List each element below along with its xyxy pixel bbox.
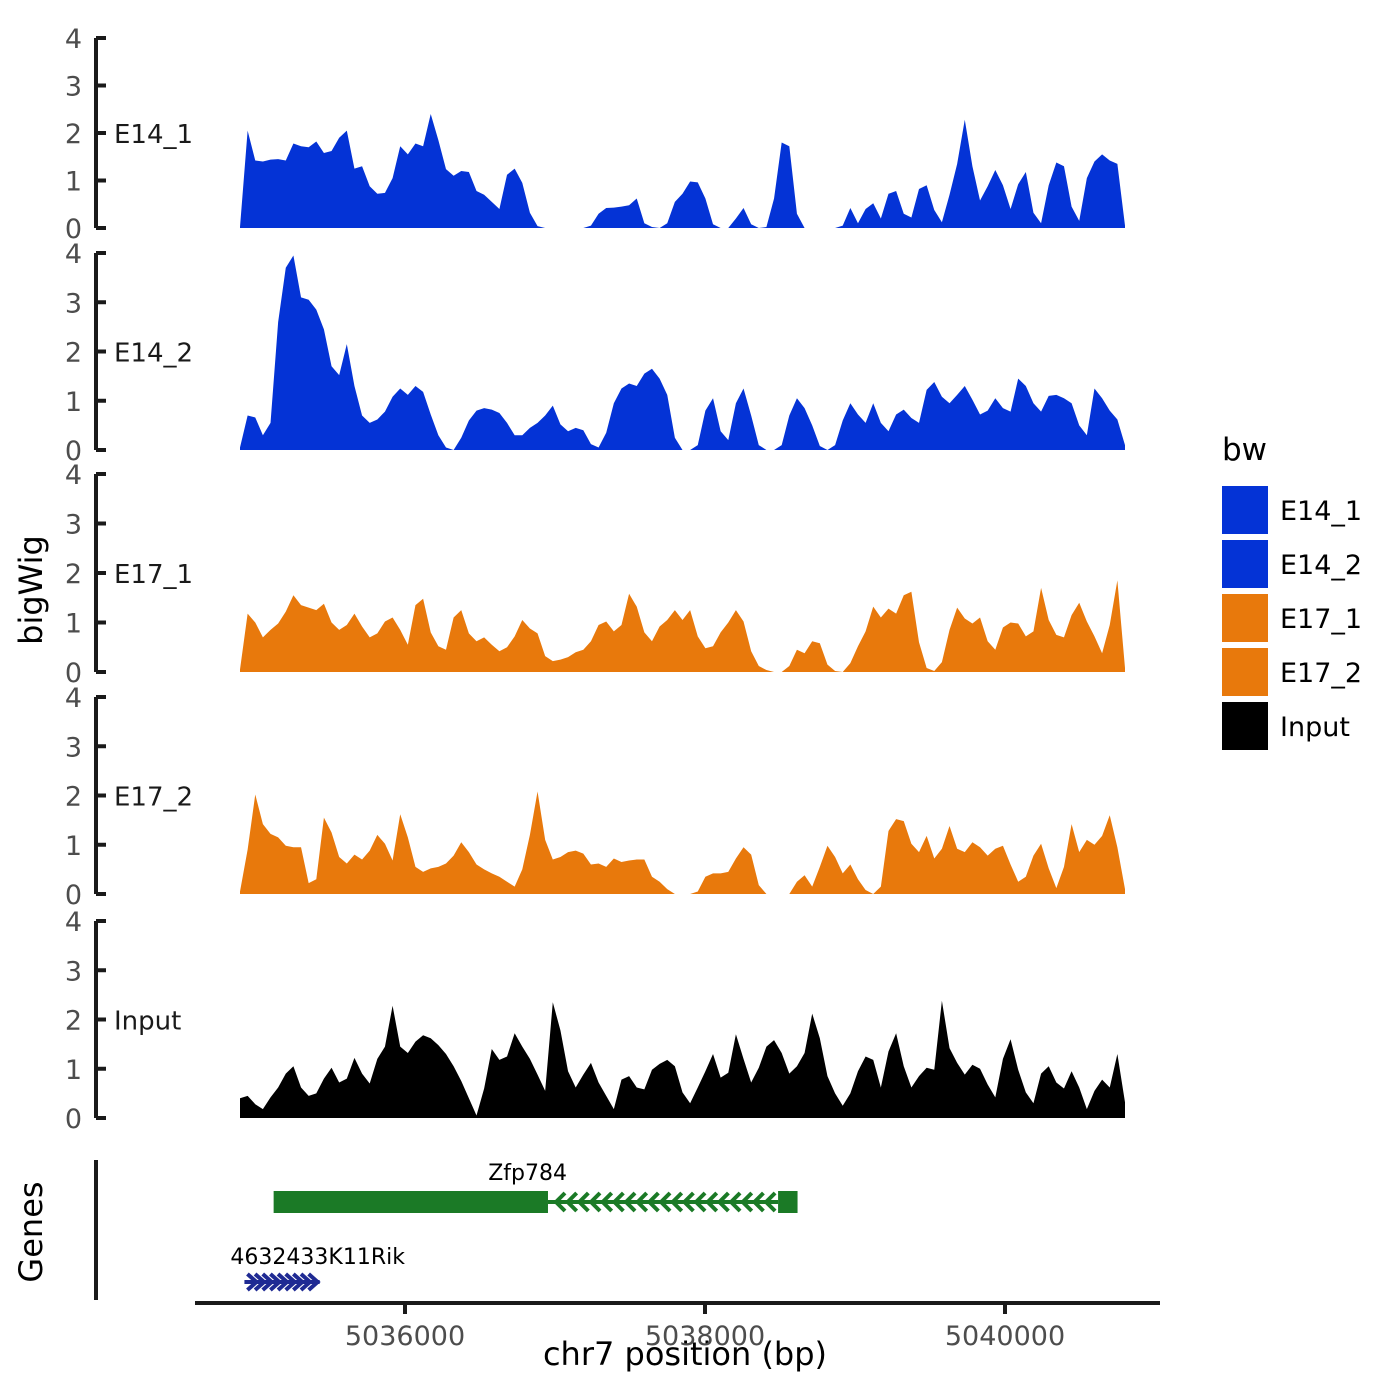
track-label-input: Input: [114, 1007, 181, 1037]
gene-label-zfp784: Zfp784: [488, 1161, 567, 1186]
y-tick-label: 0: [65, 1104, 82, 1135]
legend-label: Input: [1280, 712, 1350, 743]
legend-swatch: [1222, 594, 1268, 642]
gene-label-4632433k11rik: 4632433K11Rik: [230, 1245, 405, 1270]
legend-swatch: [1222, 540, 1268, 588]
y-tick-label: 4: [65, 239, 82, 270]
y-tick-label: 2: [65, 559, 82, 590]
figure-canvas: bigWig Genes chr7 position (bp) 01234E14…: [0, 0, 1400, 1400]
y-tick-label: 3: [65, 288, 82, 319]
y-tick-label: 3: [65, 956, 82, 987]
y-tick-label: 4: [65, 24, 82, 55]
legend-swatch: [1222, 702, 1268, 750]
y-tick-label: 2: [65, 338, 82, 369]
track-label-e17_2: E17_2: [114, 783, 193, 813]
y-tick-label: 1: [65, 1055, 82, 1086]
y-tick-label: 3: [65, 732, 82, 763]
y-tick-label: 4: [65, 683, 82, 714]
y-tick-label: 3: [65, 72, 82, 103]
track-label-e14_2: E14_2: [114, 339, 193, 369]
genes-axis-title: Genes: [12, 1181, 50, 1282]
legend-swatch: [1222, 486, 1268, 534]
legend-swatch: [1222, 648, 1268, 696]
y-tick-label: 1: [65, 609, 82, 640]
y-tick-label: 1: [65, 387, 82, 418]
x-tick-label: 5040000: [945, 1321, 1065, 1352]
legend-label: E17_1: [1280, 604, 1362, 635]
y-tick-label: 2: [65, 119, 82, 150]
y-tick-label: 3: [65, 510, 82, 541]
y-tick-label: 4: [65, 460, 82, 491]
legend-title: bw: [1222, 432, 1267, 468]
y-tick-label: 4: [65, 907, 82, 938]
track-label-e14_1: E14_1: [114, 120, 193, 150]
gene-exon: [274, 1191, 548, 1213]
legend-label: E14_2: [1280, 550, 1362, 581]
y-tick-label: 1: [65, 167, 82, 198]
y-tick-label: 2: [65, 782, 82, 813]
legend-label: E17_2: [1280, 658, 1362, 689]
track-label-e17_1: E17_1: [114, 560, 193, 590]
genome-browser-figure: bigWig Genes chr7 position (bp) 01234E14…: [0, 0, 1400, 1400]
x-tick-label: 5038000: [645, 1321, 765, 1352]
y-axis-title: bigWig: [12, 535, 50, 645]
legend-label: E14_1: [1280, 496, 1362, 527]
gene-exon: [778, 1191, 797, 1213]
x-tick-label: 5036000: [345, 1321, 465, 1352]
y-tick-label: 1: [65, 831, 82, 862]
y-tick-label: 2: [65, 1006, 82, 1037]
